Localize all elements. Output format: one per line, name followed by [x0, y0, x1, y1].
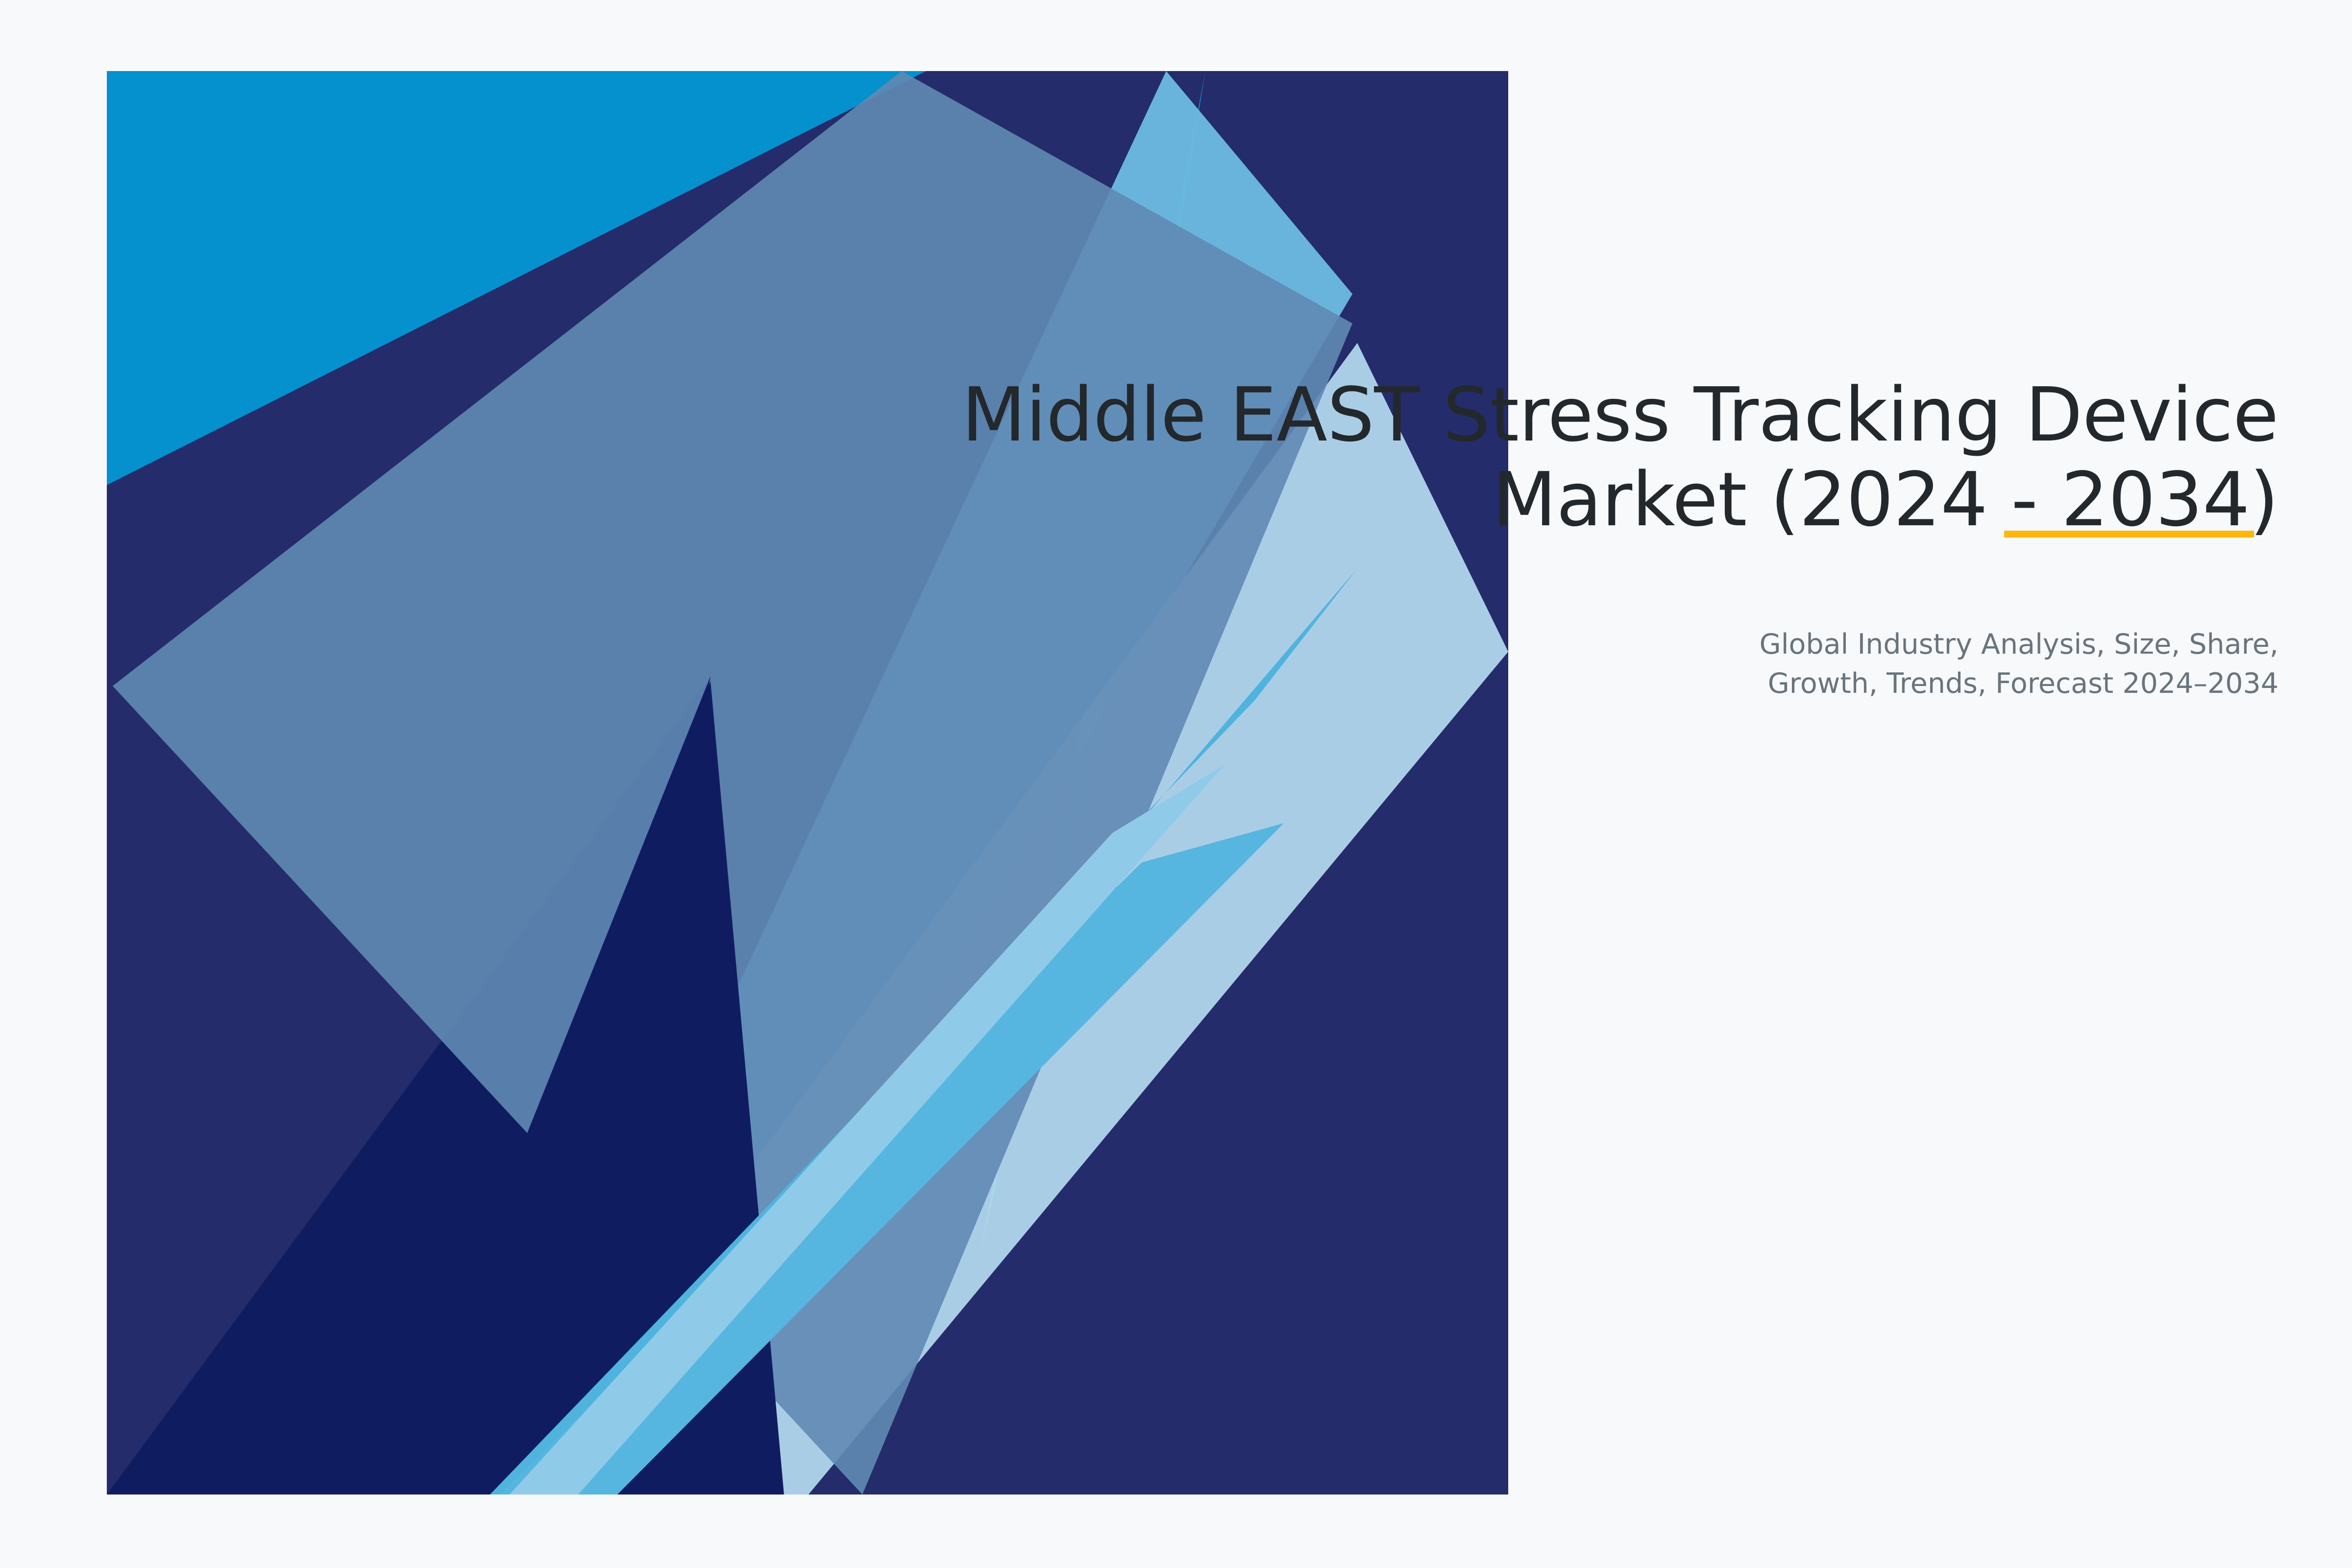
- shape-navy-top-right: [107, 71, 1508, 1494]
- shape-cyan-field: [107, 71, 1508, 1494]
- shape-navy-band: [107, 71, 1508, 1494]
- page-title-line-2: Market (2024 - 2034): [1492, 456, 2278, 543]
- page-subtitle: Global Industry Analysis, Size, Share,Gr…: [784, 625, 2278, 704]
- shape-sky-blue-bottom: [500, 823, 1284, 1494]
- shape-steel-blue-sheet: [113, 71, 1352, 1494]
- shape-navy-spike: [382, 676, 710, 1494]
- cover-artwork: [0, 0, 2352, 1568]
- page-subtitle-line-1: Global Industry Analysis, Size, Share,: [1760, 628, 2278, 661]
- page-title: Middle EAST Stress Tracking DeviceMarket…: [784, 372, 2278, 542]
- shape-sky-blue-band: [500, 71, 1352, 1494]
- cover-text-block: Middle EAST Stress Tracking DeviceMarket…: [784, 372, 2278, 704]
- shape-sky-blue-lower: [490, 568, 1357, 1494]
- shape-deep-navy-wedge: [107, 676, 779, 1494]
- page-title-line-1: Middle EAST Stress Tracking Device: [962, 371, 2278, 458]
- page-subtitle-line-2: Growth, Trends, Forecast 2024–2034: [1768, 667, 2278, 700]
- shape-deep-navy-wedge-2: [431, 681, 784, 1494]
- report-cover-page: Middle EAST Stress Tracking DeviceMarket…: [0, 0, 2352, 1568]
- title-accent-underline: [2004, 531, 2254, 538]
- shape-pale-blue-inner: [510, 764, 1225, 1494]
